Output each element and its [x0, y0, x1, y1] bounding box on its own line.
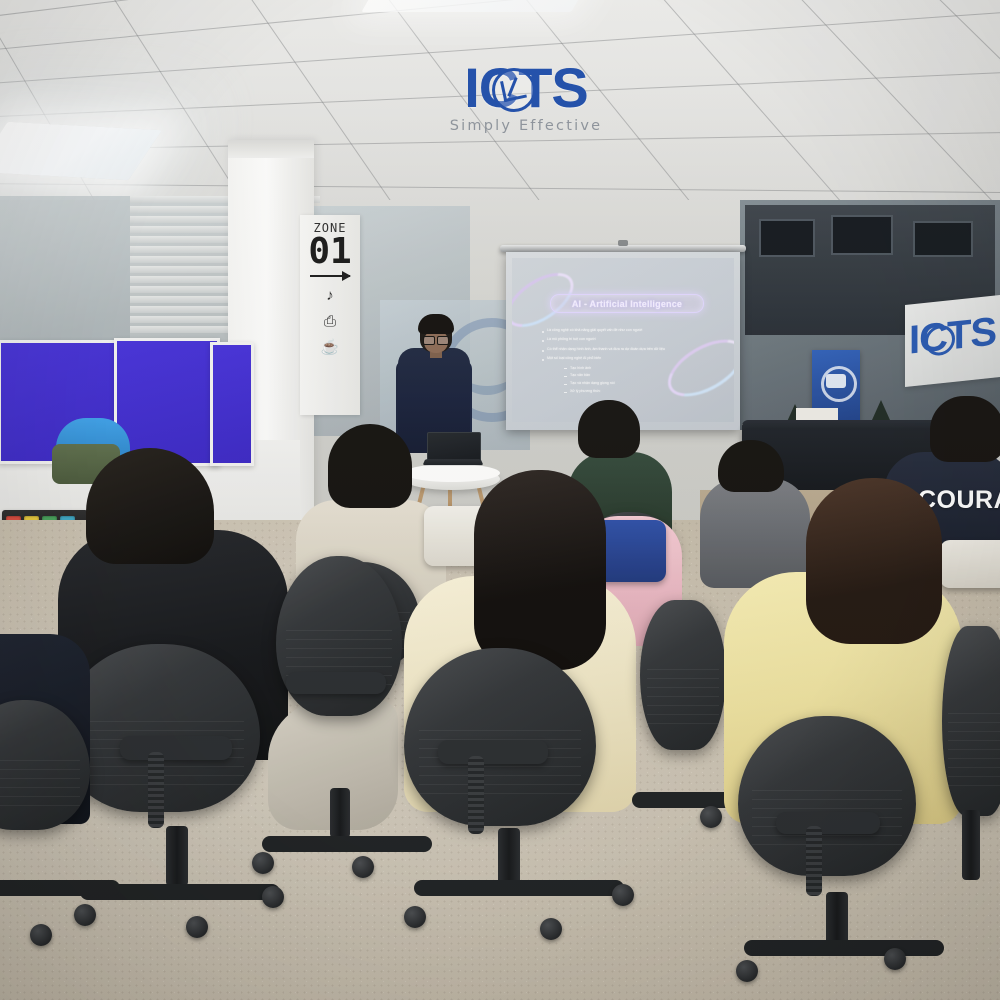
chair-caster	[30, 924, 52, 946]
chair-star-base	[262, 836, 432, 852]
zone-wayfinding-sign: ZONE 01 ♪ ⎙ ☕	[300, 215, 360, 415]
chair-star-base	[744, 940, 944, 956]
ceiling-tile-line	[899, 0, 1000, 213]
icts-watermark-logo: ICTS Simply Effective	[436, 60, 616, 134]
ceiling-tile-line	[0, 182, 1000, 194]
chair-caster	[404, 906, 426, 928]
slide-sub-bullet: Xử lý phương thức	[564, 389, 718, 393]
chair-arm-stem	[806, 826, 822, 896]
christmas-tree-decor	[872, 400, 890, 420]
glasses-icon	[423, 336, 449, 343]
attendee-hair	[930, 396, 1000, 462]
far-office-monitor	[759, 219, 815, 257]
headphones-icon: ♪	[326, 288, 334, 303]
logo-wordmark: ICTS	[464, 60, 588, 116]
coffee-cup-icon: ☕	[321, 340, 340, 355]
projector-screen-roller	[500, 245, 746, 252]
glasses-lens-left	[423, 336, 435, 345]
icts-wall-sign: ICTS	[905, 295, 1000, 387]
slide-bullet: Một số loại công nghệ AI phổ biến	[542, 356, 718, 361]
slide-bullet: Có thể nhận dạng hình ảnh, âm thanh và đ…	[542, 347, 718, 352]
slide-title: AI - Artificial Intelligence	[572, 299, 682, 309]
direction-arrow-icon	[310, 275, 350, 277]
office-chair-back	[640, 600, 726, 750]
slide-bullet-list: Là công nghệ có khả năng giải quyết vấn …	[542, 328, 718, 397]
bullet-dot-icon	[542, 350, 544, 352]
chair-gas-cylinder	[330, 788, 350, 838]
glasses-lens-right	[437, 336, 449, 345]
sub-bullet-dash-icon	[564, 376, 567, 377]
slide-sub-bullet: Tạo và nhận dạng giọng nói	[564, 381, 718, 385]
chair-caster	[884, 948, 906, 970]
slide-bullet-text: Có thể nhận dạng hình ảnh, âm thanh và đ…	[547, 347, 665, 352]
logo-tagline: Simply Effective	[436, 118, 616, 134]
slide-bullet: Là mô phỏng trí tuệ con người	[542, 337, 718, 342]
headphones-icon	[826, 374, 846, 388]
chair-star-base	[0, 880, 120, 896]
chair-caster	[74, 904, 96, 926]
chair-armrest	[286, 672, 386, 694]
presentation-slide: AI - Artificial Intelligence Là công ngh…	[512, 258, 734, 422]
attendee-hair	[806, 478, 942, 644]
chair-caster	[736, 960, 758, 982]
slide-sub-bullet: Tạo hình ảnh	[564, 366, 718, 370]
chair-caster	[612, 884, 634, 906]
office-chair-back	[942, 626, 1000, 816]
bullet-dot-icon	[542, 340, 544, 342]
bullet-dot-icon	[542, 331, 544, 333]
attendee-hair	[86, 448, 214, 564]
slide-bullet-text: Là công nghệ có khả năng giải quyết vấn …	[547, 328, 642, 333]
chair-arm-stem	[148, 752, 164, 828]
circular-tech-emblem-icon	[492, 68, 536, 112]
chair-caster	[352, 856, 374, 878]
slide-sub-bullet: Tạo văn bản	[564, 373, 718, 377]
chair-gas-cylinder	[166, 826, 188, 886]
round-table-top	[404, 464, 500, 482]
chair-caster	[186, 916, 208, 938]
sub-bullet-dash-icon	[564, 392, 567, 393]
slide-sub-bullet-text: Tạo và nhận dạng giọng nói	[570, 381, 615, 385]
attendee-hair	[578, 400, 640, 458]
attendee-hair	[328, 424, 412, 508]
office-chair-back	[738, 716, 916, 876]
chair-arm-stem	[468, 756, 484, 834]
far-office-monitor	[831, 215, 893, 255]
chair-caster	[262, 886, 284, 908]
ceiling-light-panel-2	[361, 0, 588, 12]
sub-bullet-dash-icon	[564, 368, 567, 369]
chair-caster	[700, 806, 722, 828]
printer-icon: ⎙	[324, 314, 336, 329]
slide-sub-bullet-text: Xử lý phương thức	[570, 389, 600, 393]
zone-sign-number: 01	[308, 235, 351, 269]
chair-gas-cylinder	[498, 828, 520, 884]
chair-armrest	[438, 740, 548, 764]
presenter-hair	[418, 314, 454, 334]
slide-bullet: Là công nghệ có khả năng giải quyết vấn …	[542, 328, 718, 333]
far-office-monitor	[913, 221, 973, 257]
office-chair-back	[404, 648, 596, 826]
slide-title-box: AI - Artificial Intelligence	[550, 294, 704, 313]
pillar-capital	[228, 140, 314, 158]
chair-gas-cylinder	[826, 892, 848, 944]
chair-armrest	[120, 736, 232, 760]
chair-caster	[540, 918, 562, 940]
photo-scene: ICTS Simply Effective ICTS ZONE 01 ♪ ⎙ ☕	[0, 0, 1000, 1000]
attendee-hair	[474, 470, 606, 670]
slide-sub-bullet-text: Tạo hình ảnh	[570, 366, 591, 370]
laptop-keyboard[interactable]	[423, 459, 484, 465]
slide-sub-bullet-text: Tạo văn bản	[570, 373, 590, 377]
chair-caster	[252, 852, 274, 874]
sub-bullet-dash-icon	[564, 384, 567, 385]
desk-divider-panel	[210, 342, 254, 466]
chair-star-base	[414, 880, 624, 896]
ceiling-tile-line	[764, 0, 1000, 222]
slide-bullet-text: Là mô phỏng trí tuệ con người	[547, 337, 596, 342]
bullet-dot-icon	[542, 359, 544, 361]
chair-armrest	[776, 812, 880, 834]
laptop-screen[interactable]	[427, 432, 481, 462]
chair-gas-cylinder	[962, 810, 980, 880]
slide-bullet-text: Một số loại công nghệ AI phổ biến	[547, 356, 601, 361]
white-chair-headrest	[940, 540, 1000, 588]
